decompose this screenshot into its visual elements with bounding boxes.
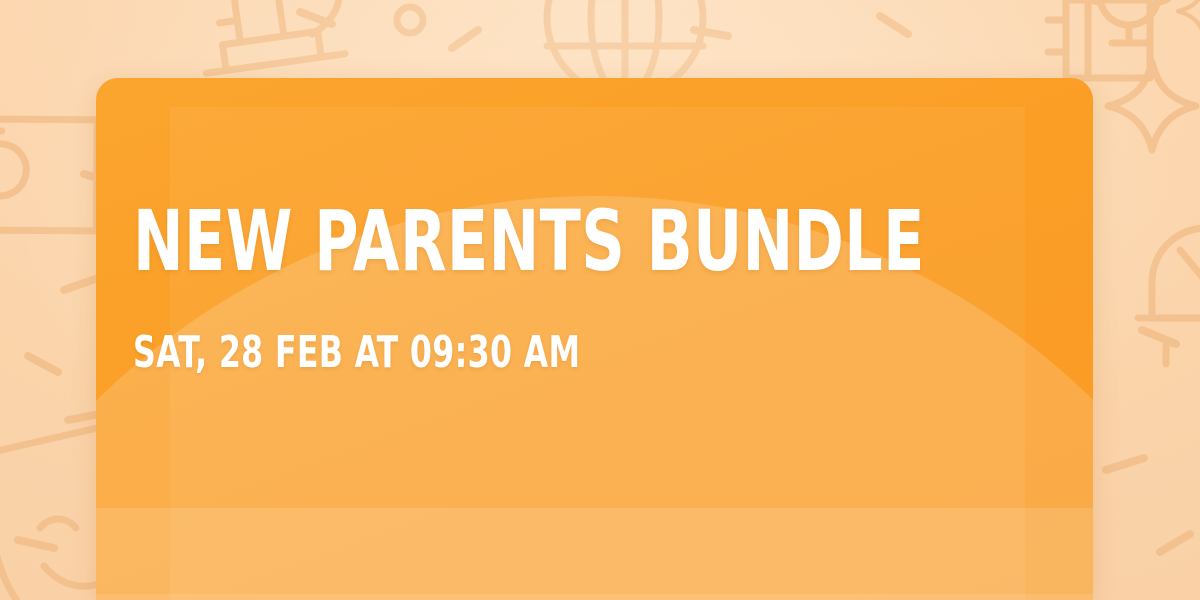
sparkle-icon (1108, 62, 1196, 150)
trophy-icon (1084, 0, 1174, 43)
sparkle-icon (1178, 0, 1200, 39)
book-icon (1048, 0, 1150, 78)
event-datetime: SAT, 28 FEB AT 09:30 AM (133, 330, 925, 376)
event-banner: NEW PARENTS BUNDLE SAT, 28 FEB AT 09:30 … (0, 0, 1200, 600)
card-baseline (96, 594, 1093, 600)
card-floor-shape (96, 508, 1093, 600)
event-title: NEW PARENTS BUNDLE (133, 198, 925, 284)
microscope-icon (193, 0, 349, 73)
event-text-block: NEW PARENTS BUNDLE SAT, 28 FEB AT 09:30 … (133, 198, 1093, 376)
lantern-icon (1138, 206, 1200, 364)
event-card[interactable]: NEW PARENTS BUNDLE SAT, 28 FEB AT 09:30 … (96, 78, 1093, 600)
balloon-icon (397, 7, 423, 33)
